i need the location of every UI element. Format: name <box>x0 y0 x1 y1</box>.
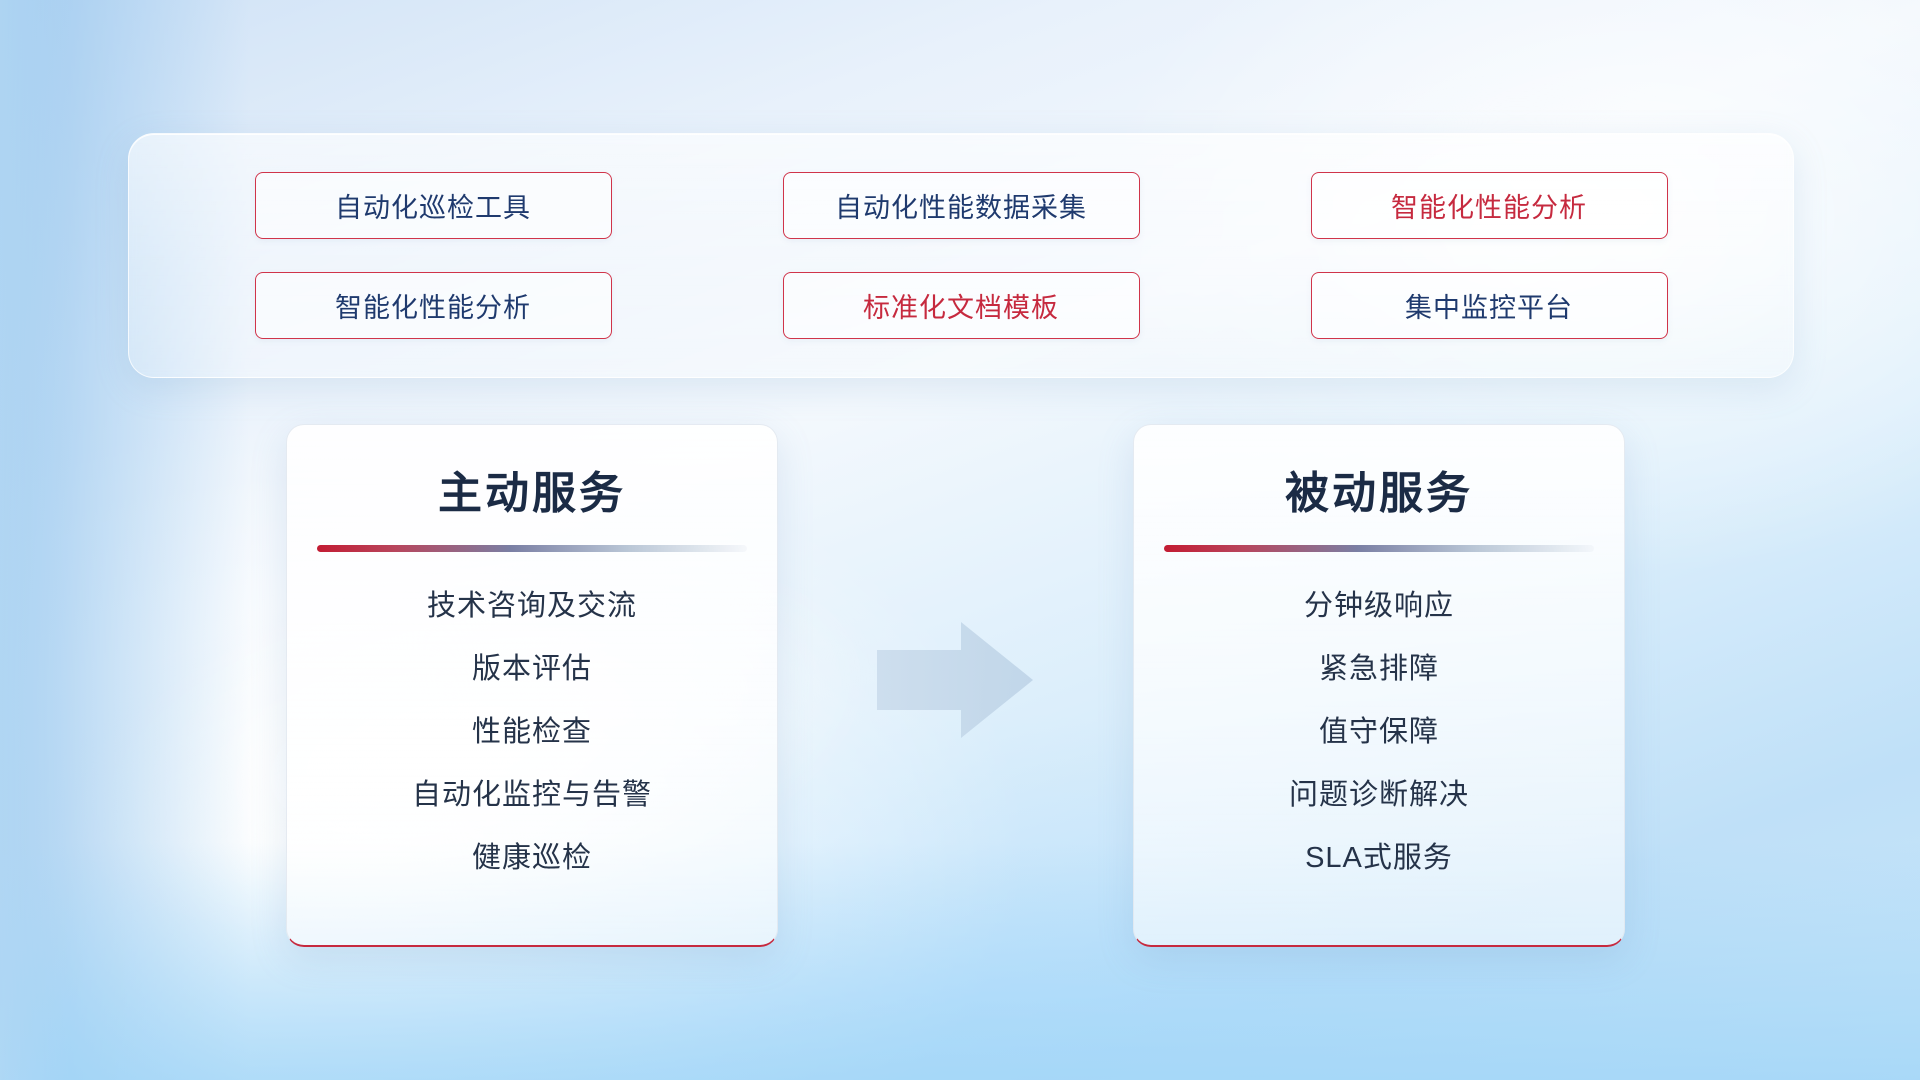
service-card-reactive: 被动服务 分钟级响应 紧急排障 值守保障 问题诊断解决 SLA式服务 <box>1133 424 1625 947</box>
list-item: SLA式服务 <box>1305 834 1453 876</box>
list-item: 问题诊断解决 <box>1289 771 1469 813</box>
capability-tag[interactable]: 智能化性能分析 <box>1311 172 1668 239</box>
title-divider <box>1164 545 1594 552</box>
capability-tag-label: 标准化文档模板 <box>863 286 1059 325</box>
capability-tag-label: 智能化性能分析 <box>1391 186 1587 225</box>
capability-tag-grid: 自动化巡检工具 自动化性能数据采集 智能化性能分析 智能化性能分析 标准化文档模… <box>129 134 1793 377</box>
capability-tag-label: 自动化巡检工具 <box>335 186 531 225</box>
list-item: 性能检查 <box>472 708 592 750</box>
list-item: 值守保障 <box>1319 708 1439 750</box>
list-item: 技术咨询及交流 <box>427 582 637 624</box>
list-item: 紧急排障 <box>1319 645 1439 687</box>
list-item: 分钟级响应 <box>1304 582 1454 624</box>
card-item-list: 技术咨询及交流 版本评估 性能检查 自动化监控与告警 健康巡检 <box>287 582 777 876</box>
capability-tag[interactable]: 自动化性能数据采集 <box>783 172 1140 239</box>
list-item: 自动化监控与告警 <box>412 771 652 813</box>
capability-tag[interactable]: 自动化巡检工具 <box>255 172 612 239</box>
capability-tag-label: 集中监控平台 <box>1405 286 1573 325</box>
list-item: 版本评估 <box>472 645 592 687</box>
diagram-stage: 自动化巡检工具 自动化性能数据采集 智能化性能分析 智能化性能分析 标准化文档模… <box>0 0 1920 1080</box>
capability-tag-label: 智能化性能分析 <box>335 286 531 325</box>
capability-tag[interactable]: 标准化文档模板 <box>783 272 1140 339</box>
list-item: 健康巡检 <box>472 834 592 876</box>
capability-tag[interactable]: 智能化性能分析 <box>255 272 612 339</box>
arrow-right-icon <box>875 620 1035 740</box>
capability-tag[interactable]: 集中监控平台 <box>1311 272 1668 339</box>
service-card-proactive: 主动服务 技术咨询及交流 版本评估 性能检查 自动化监控与告警 健康巡检 <box>286 424 778 947</box>
left-edge-fade <box>0 0 70 1080</box>
title-divider <box>317 545 747 552</box>
card-item-list: 分钟级响应 紧急排障 值守保障 问题诊断解决 SLA式服务 <box>1134 582 1624 876</box>
capability-panel: 自动化巡检工具 自动化性能数据采集 智能化性能分析 智能化性能分析 标准化文档模… <box>128 133 1794 378</box>
capability-tag-label: 自动化性能数据采集 <box>835 186 1087 225</box>
card-title: 被动服务 <box>1134 457 1624 521</box>
card-title: 主动服务 <box>287 457 777 521</box>
